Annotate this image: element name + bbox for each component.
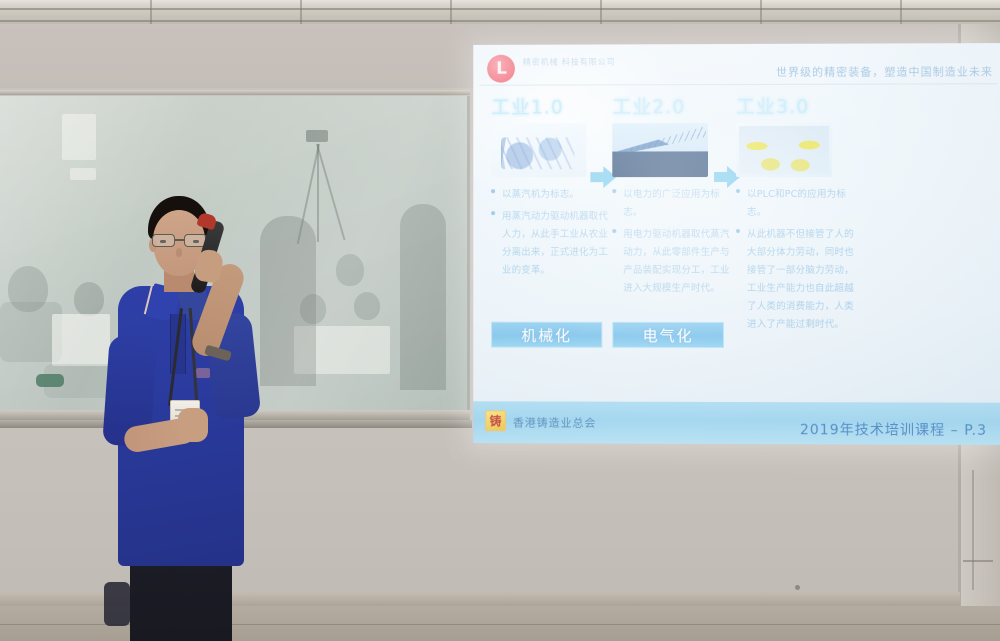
ceiling-rail-vertical: [450, 0, 452, 26]
presenter-speaking: [100, 196, 300, 641]
bullet-dot-icon: [491, 211, 495, 215]
association-name: 香港铸造业总会: [513, 414, 596, 430]
bullet-dot-icon: [491, 189, 495, 193]
bullet-item: 用蒸汽动力驱动机器取代人力，从此手工业从农业分离出来，正式进化为工业的变革。: [491, 206, 608, 278]
bullet-text: 以蒸汽机为标志。: [502, 189, 579, 200]
bullet-item: 用电力驱动机器取代蒸汽动力，从此零部件生产与产品装配实现分工，工业进入大规模生产…: [612, 224, 730, 296]
column-industry-3: 工业3.0 以PLC和PC的应用为标志。 从此机器不但接管了人的大部分体力劳动，…: [736, 92, 854, 337]
reflection-audience-head: [8, 266, 48, 312]
reflection-silhouette: [400, 204, 446, 390]
reflection-audience-head: [354, 292, 380, 320]
robotic-automation-line-photo: [736, 123, 832, 177]
column-bullets: 以蒸汽机为标志。 用蒸汽动力驱动机器取代人力，从此手工业从农业分离出来，正式进化…: [491, 184, 608, 278]
wall-seam: [963, 560, 993, 562]
reflection-paper: [70, 168, 96, 180]
bullet-item: 从此机器不但接管了人的大部分体力劳动，同时也接管了一部分脑力劳动，工业生产能力也…: [736, 224, 854, 332]
column-title: 工业1.0: [491, 92, 608, 119]
presenter-hand-right: [194, 248, 224, 283]
slide-page-label: 2019年技术培训课程 – P.3: [800, 419, 987, 440]
bullet-text: 用蒸汽动力驱动机器取代人力，从此手工业从农业分离出来，正式进化为工业的变革。: [502, 211, 608, 276]
presenter-hand-left: [178, 408, 208, 442]
wall-mark: [795, 585, 800, 590]
tag-label: 电气化: [643, 324, 694, 345]
bullet-item: 以PLC和PC的应用为标志。: [736, 184, 854, 220]
column-bullets: 以电力的广泛应用为标志。 用电力驱动机器取代蒸汽动力，从此零部件生产与产品装配实…: [612, 184, 730, 296]
green-eraser: [36, 374, 64, 387]
presenter-nose: [176, 248, 182, 257]
electrified-factory-photo: [612, 123, 708, 177]
reflection-paper: [62, 114, 96, 160]
tag-box-mechanization: 机械化: [491, 322, 602, 348]
slide-footer: 铸 香港铸造业总会 2019年技术培训课程 – P.3: [473, 401, 1000, 445]
column-title: 工业2.0: [612, 92, 730, 119]
company-logo-mark: L: [496, 60, 506, 77]
slide-tagline: 世界级的精密装备，塑造中国制造业未来: [776, 63, 993, 80]
slide-header: L 精密机械 科技有限公司 世界级的精密装备，塑造中国制造业未来: [483, 51, 995, 85]
steam-engine-machine-photo: [491, 123, 586, 177]
reflection-audience-head: [300, 294, 326, 324]
ceiling-rail-vertical: [900, 0, 902, 26]
ceiling-rail-vertical: [150, 0, 152, 26]
bullet-dot-icon: [736, 229, 740, 233]
bullet-item: 以电力的广泛应用为标志。: [612, 184, 730, 220]
tag-label: 机械化: [521, 324, 572, 345]
reflection-audience-shirt: [294, 326, 390, 374]
presenter-shirt-logo: [196, 368, 210, 378]
bullet-dot-icon: [736, 189, 740, 193]
projected-slide: L 精密机械 科技有限公司 世界级的精密装备，塑造中国制造业未来 工业1.0 以…: [473, 43, 1000, 445]
reflection-camera-tripod: [296, 130, 340, 270]
bullet-text: 以电力的广泛应用为标志。: [623, 189, 720, 218]
glasses-bridge: [175, 239, 185, 241]
lecture-room-scene: L 精密机械 科技有限公司 世界级的精密装备，塑造中国制造业未来 工业1.0 以…: [0, 0, 1000, 641]
wall-seam: [972, 470, 974, 590]
column-title: 工业3.0: [736, 92, 854, 119]
glasses-lens: [152, 234, 175, 247]
bullet-dot-icon: [612, 229, 616, 233]
eyeglasses-icon: [150, 234, 210, 248]
presenter-bag: [104, 582, 130, 626]
whiteboard-frame-top: [0, 90, 470, 95]
column-industry-2: 工业2.0 以电力的广泛应用为标志。 用电力驱动机器取代蒸汽动力，从此零部件生产…: [612, 92, 730, 300]
bullet-text: 用电力驱动机器取代蒸汽动力，从此零部件生产与产品装配实现分工，工业进入大规模生产…: [623, 229, 729, 294]
column-bullets: 以PLC和PC的应用为标志。 从此机器不但接管了人的大部分体力劳动，同时也接管了…: [736, 184, 854, 332]
tripod-leg: [297, 144, 320, 244]
presenter-legs: [122, 556, 240, 641]
presenter-leg: [180, 556, 232, 641]
reflection-audience-body: [0, 302, 62, 362]
ceiling-rail-vertical: [300, 0, 302, 26]
association-logo-char: 铸: [490, 415, 502, 427]
tag-box-electrification: 电气化: [612, 322, 724, 348]
company-logo-icon: L: [487, 55, 515, 83]
reflection-camera: [306, 130, 328, 142]
tripod-leg: [316, 144, 345, 241]
association-logo-icon: 铸: [485, 410, 506, 431]
ceiling-rail-vertical: [760, 0, 762, 26]
tripod-leg: [317, 144, 319, 242]
bullet-text: 以PLC和PC的应用为标志。: [747, 189, 846, 218]
company-name-text: 精密机械 科技有限公司: [523, 56, 618, 67]
bullet-dot-icon: [612, 189, 616, 193]
reflection-audience-head: [336, 254, 364, 286]
presenter-leg: [130, 556, 182, 641]
bullet-text: 从此机器不但接管了人的大部分体力劳动，同时也接管了一部分脑力劳动，工业生产能力也…: [747, 229, 854, 330]
header-divider: [479, 83, 997, 85]
ceiling-rail-vertical: [600, 0, 602, 26]
ceiling: [0, 0, 1000, 26]
